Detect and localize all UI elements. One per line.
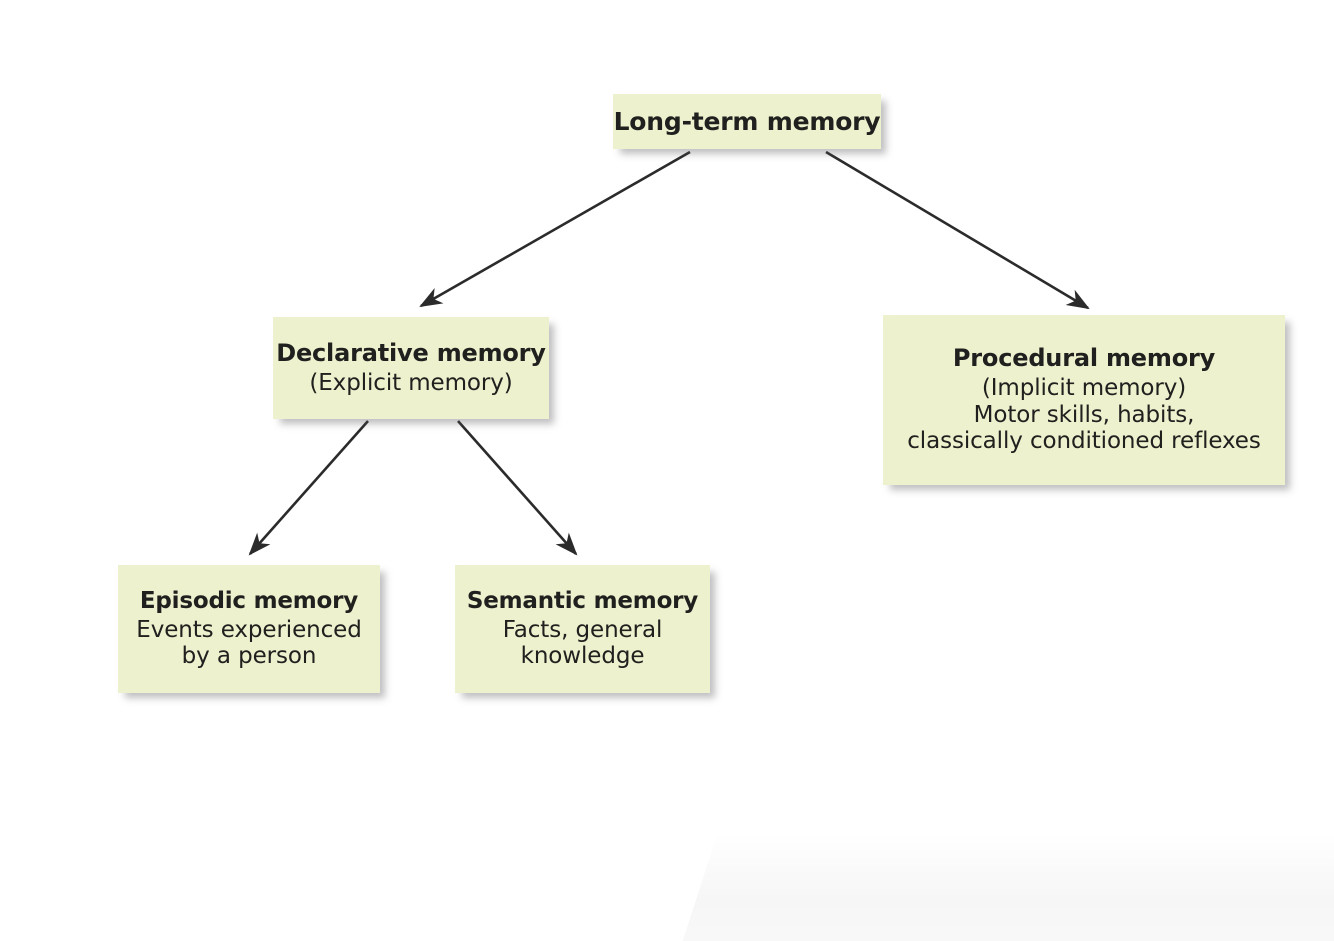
node-semantic-memory[interactable]: Semantic memory Facts, general knowledge bbox=[455, 565, 710, 693]
arrow-ltm-to-procedural bbox=[826, 152, 1088, 308]
arrow-declarative-to-episodic bbox=[250, 421, 368, 554]
node-procedural-memory[interactable]: Procedural memory (Implicit memory) Moto… bbox=[883, 315, 1285, 485]
diagram-canvas: Long-term memory Declarative memory (Exp… bbox=[0, 0, 1334, 941]
node-episodic-memory[interactable]: Episodic memory Events experienced by a … bbox=[118, 565, 380, 693]
node-title: Long-term memory bbox=[614, 107, 881, 136]
node-subline: by a person bbox=[182, 643, 317, 670]
node-subline: (Implicit memory) bbox=[982, 375, 1186, 402]
node-title: Episodic memory bbox=[140, 588, 358, 615]
node-subline: Facts, general bbox=[503, 617, 663, 644]
arrow-ltm-to-declarative bbox=[421, 152, 690, 306]
node-subline: classically conditioned reflexes bbox=[907, 428, 1261, 455]
node-long-term-memory[interactable]: Long-term memory bbox=[613, 94, 881, 149]
node-title: Semantic memory bbox=[467, 588, 698, 615]
node-title: Declarative memory bbox=[276, 340, 546, 368]
node-subline: knowledge bbox=[521, 643, 645, 670]
node-declarative-memory[interactable]: Declarative memory (Explicit memory) bbox=[273, 317, 549, 419]
arrow-declarative-to-semantic bbox=[458, 421, 576, 554]
node-subline: (Explicit memory) bbox=[309, 370, 512, 397]
node-subline: Motor skills, habits, bbox=[974, 402, 1195, 429]
node-subline: Events experienced bbox=[136, 617, 361, 644]
node-title: Procedural memory bbox=[953, 345, 1215, 373]
